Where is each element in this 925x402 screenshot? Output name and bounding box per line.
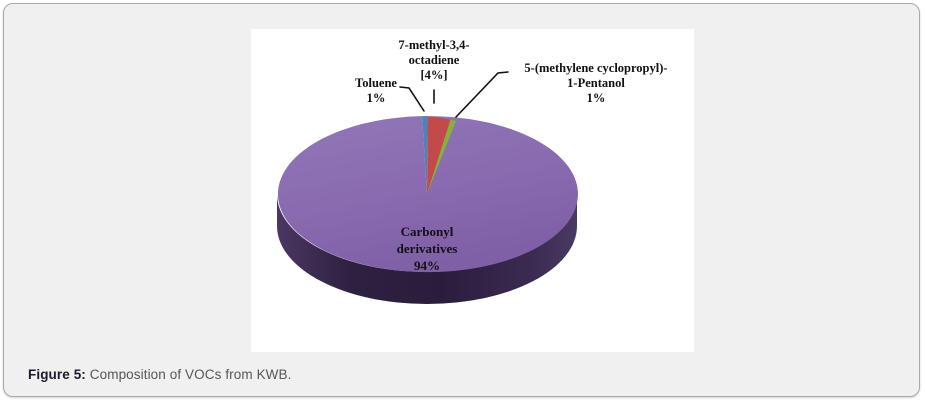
pie-label-octadiene-name-line2: octadiene — [374, 53, 494, 68]
pie-label-carbonyl-value: 94% — [366, 257, 488, 274]
pie-label-octadiene-name-line1: 7-methyl-3,4- — [374, 38, 494, 53]
pie-label-pentanol-name-line1: 5-(methylene cyclopropyl)- — [496, 61, 696, 76]
pie-label-pentanol-name-line2: 1-Pentanol — [496, 76, 696, 91]
figure-caption-label: Figure 5: — [28, 367, 86, 382]
pie-label-carbonyl-derivatives: Carbonyl derivatives 94% — [366, 223, 488, 274]
pie-label-carbonyl-name-line1: Carbonyl — [366, 223, 488, 240]
figure-caption: Figure 5: Composition of VOCs from KWB. — [28, 366, 291, 383]
figure-caption-text: Composition of VOCs from KWB. — [90, 367, 292, 382]
pie-label-pentanol-value: 1% — [496, 91, 696, 106]
figure-frame: Toluene 1% 7-methyl-3,4- octadiene [4%] … — [3, 3, 920, 397]
pie-label-octadiene-value: [4%] — [374, 68, 494, 83]
pie-label-octadiene: 7-methyl-3,4- octadiene [4%] — [374, 38, 494, 83]
pie-label-carbonyl-name-line2: derivatives — [366, 240, 488, 257]
pie-label-toluene-value: 1% — [337, 91, 415, 106]
pie-label-pentanol: 5-(methylene cyclopropyl)- 1-Pentanol 1% — [496, 61, 696, 106]
